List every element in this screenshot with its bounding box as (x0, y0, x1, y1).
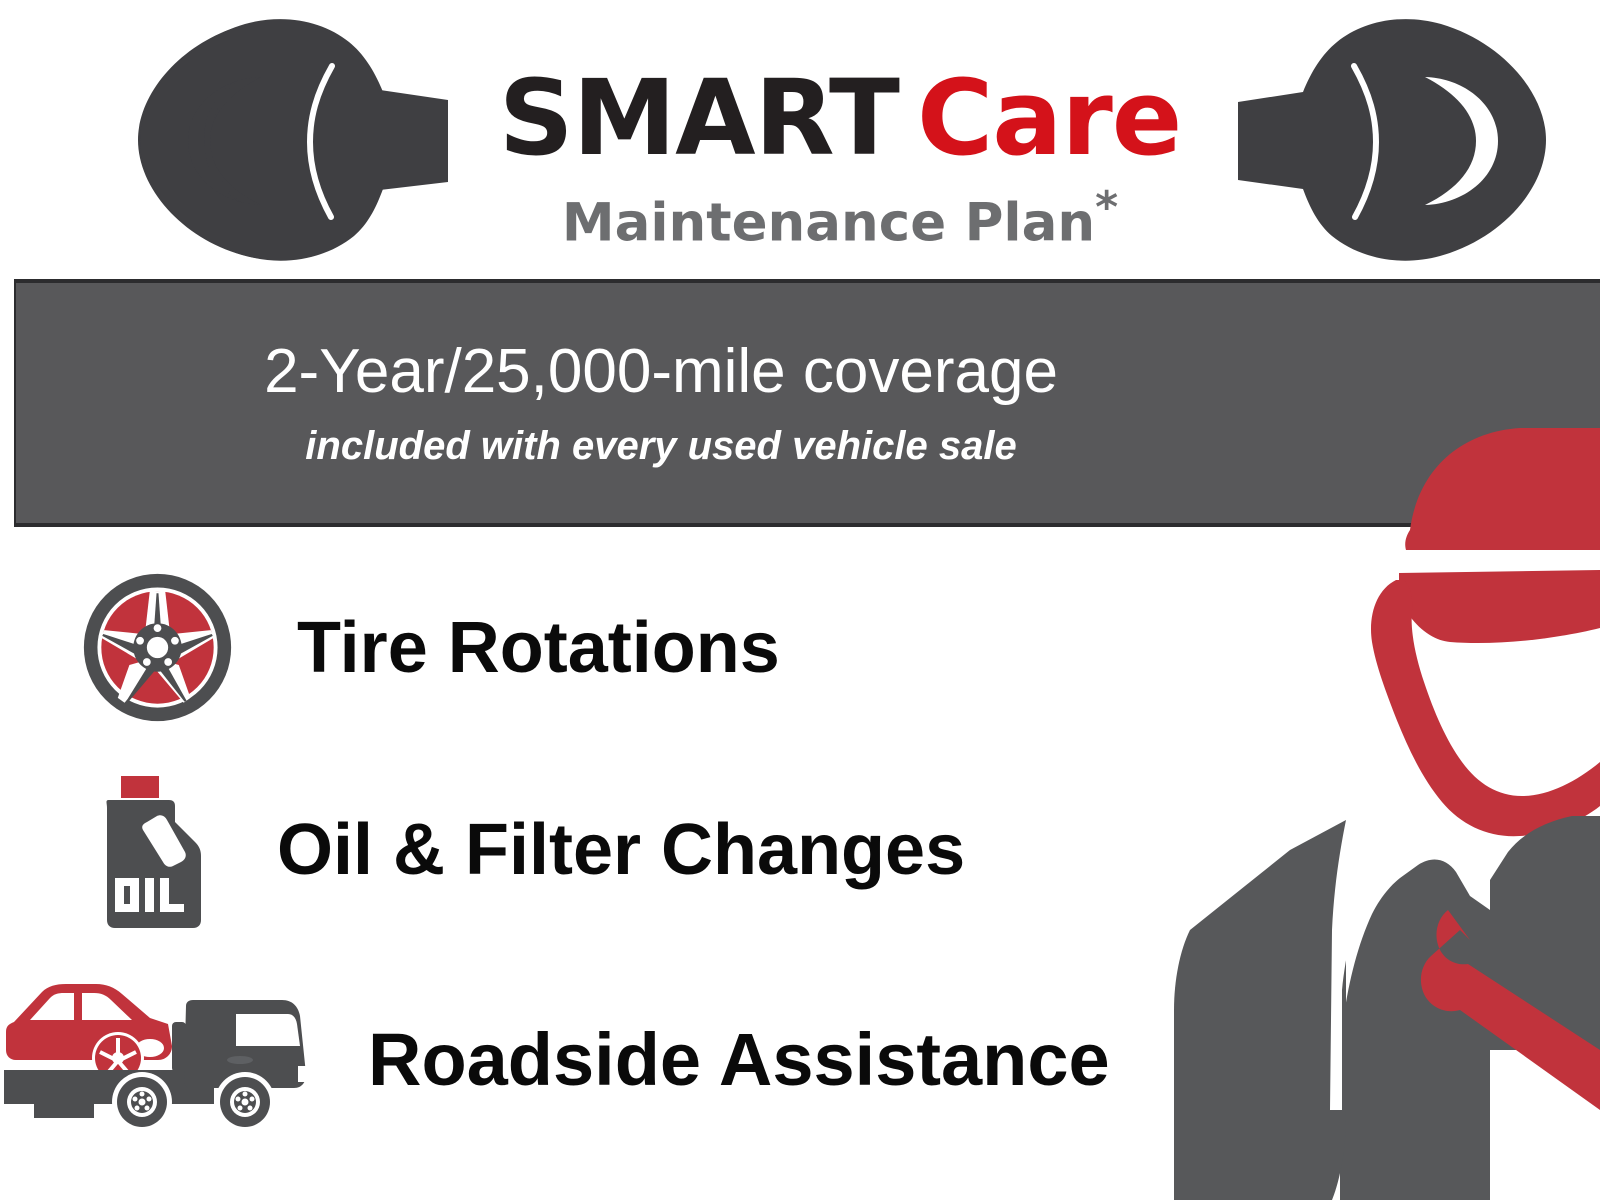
logo-title: SMARTCare (430, 62, 1250, 174)
mechanic-illustration (1160, 410, 1600, 1200)
wrench-icon (1238, 8, 1568, 270)
logo-smart-text: SMART (499, 57, 899, 179)
banner-subhead: included with every used vehicle sale (305, 421, 1016, 471)
logo-tagline-text: Maintenance Plan (562, 193, 1095, 254)
feature-label: Roadside Assistance (368, 1020, 1110, 1100)
feature-list: Tire Rotations (0, 540, 1200, 1200)
tire-icon (80, 570, 235, 725)
tow-truck-icon (0, 970, 330, 1150)
banner-headline: 2-Year/25,000-mile coverage (264, 335, 1058, 409)
list-item: Tire Rotations (80, 570, 780, 725)
list-item: Roadside Assistance (0, 970, 1110, 1150)
logo-tagline: Maintenance Plan* (430, 178, 1250, 254)
logo-care-text: Care (917, 57, 1181, 179)
wrench-icon (118, 8, 448, 270)
feature-label: Tire Rotations (297, 608, 780, 688)
promo-graphic: SMARTCare Maintenance Plan* 2-Year/25,00… (0, 0, 1600, 1200)
list-item: Oil & Filter Changes (95, 770, 965, 930)
feature-label: Oil & Filter Changes (277, 810, 965, 890)
oil-bottle-icon (95, 770, 205, 930)
logo-wordmark: SMARTCare Maintenance Plan* (430, 62, 1250, 254)
header: SMARTCare Maintenance Plan* (0, 0, 1600, 275)
logo-tagline-asterisk: * (1095, 182, 1118, 233)
